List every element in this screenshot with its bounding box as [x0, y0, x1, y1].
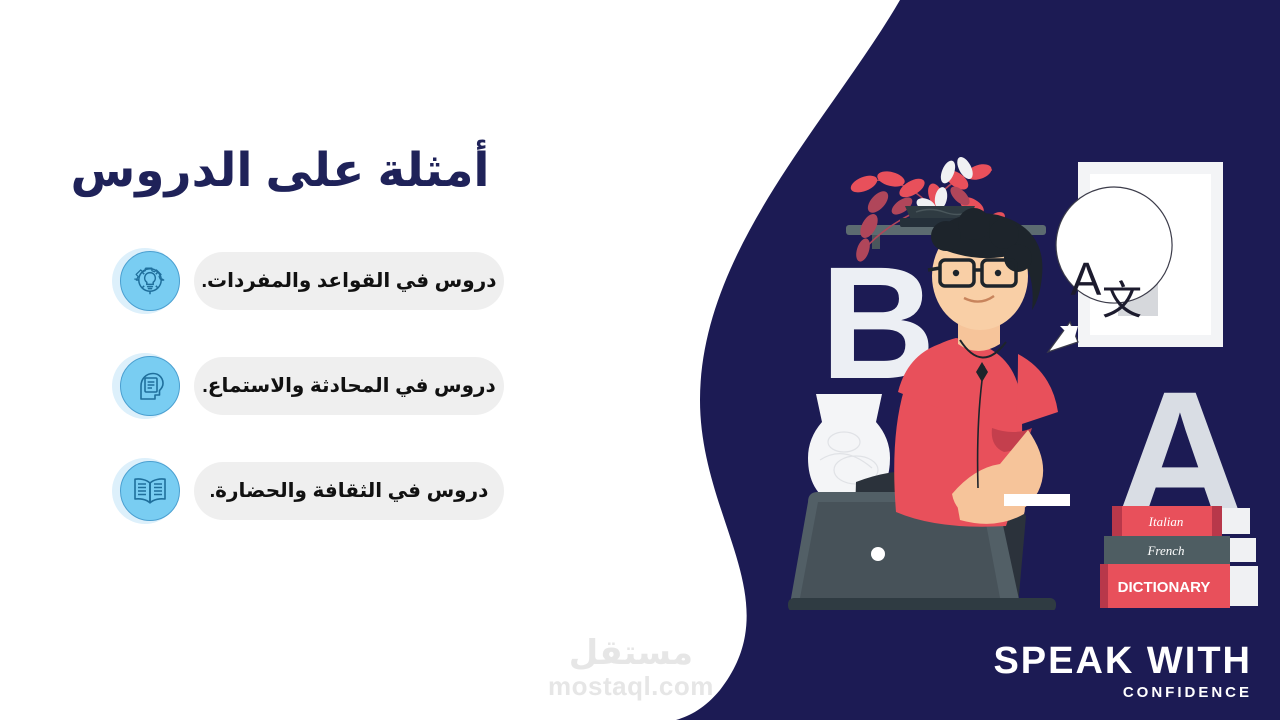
watermark-arabic: مستقل	[548, 636, 714, 670]
paper-sheet	[1004, 494, 1070, 506]
open-book-icon	[112, 458, 182, 528]
book-stack: Italian French DICTIONARY	[1100, 506, 1258, 608]
brand-line-secondary: CONFIDENCE	[993, 685, 1252, 700]
lesson-pill[interactable]: دروس في المحادثة والاستماع.	[194, 357, 504, 415]
book-label-french: French	[1146, 543, 1184, 558]
lesson-pill[interactable]: دروس في القواعد والمفردات.	[194, 252, 504, 310]
left-content-column: أمثلة على الدروس	[0, 0, 620, 720]
book-label-dictionary: DICTIONARY	[1118, 579, 1211, 596]
language-learning-illustration: B A	[760, 110, 1260, 610]
book-label-italian: Italian	[1148, 514, 1184, 529]
icon-disc	[120, 356, 180, 416]
slide-canvas: B A	[0, 0, 1280, 720]
list-item[interactable]: دروس في المحادثة والاستماع.	[112, 353, 512, 425]
bubble-cjk-glyph: 文	[1102, 278, 1142, 324]
head-document-icon	[112, 353, 182, 423]
lesson-examples-list: دروس في القواعد والمفردات.	[112, 248, 512, 563]
list-item-label: دروس في الثقافة والحضارة.	[210, 479, 489, 503]
gear-lightbulb-icon	[112, 248, 182, 318]
bubble-letter-a: A	[1071, 253, 1102, 305]
brand-line-primary: SPEAK WITH	[993, 642, 1252, 680]
icon-disc	[120, 251, 180, 311]
list-item-label: دروس في القواعد والمفردات.	[202, 269, 497, 293]
watermark-latin: mostaql.com	[548, 672, 714, 701]
list-item[interactable]: دروس في القواعد والمفردات.	[112, 248, 512, 320]
list-item[interactable]: دروس في الثقافة والحضارة.	[112, 458, 512, 530]
lesson-pill[interactable]: دروس في الثقافة والحضارة.	[194, 462, 504, 520]
icon-disc	[120, 461, 180, 521]
list-item-label: دروس في المحادثة والاستماع.	[202, 374, 496, 398]
brand-logo: SPEAK WITH CONFIDENCE	[993, 642, 1252, 700]
page-title: أمثلة على الدروس	[0, 143, 560, 197]
mostaql-watermark: مستقل mostaql.com	[548, 636, 714, 701]
